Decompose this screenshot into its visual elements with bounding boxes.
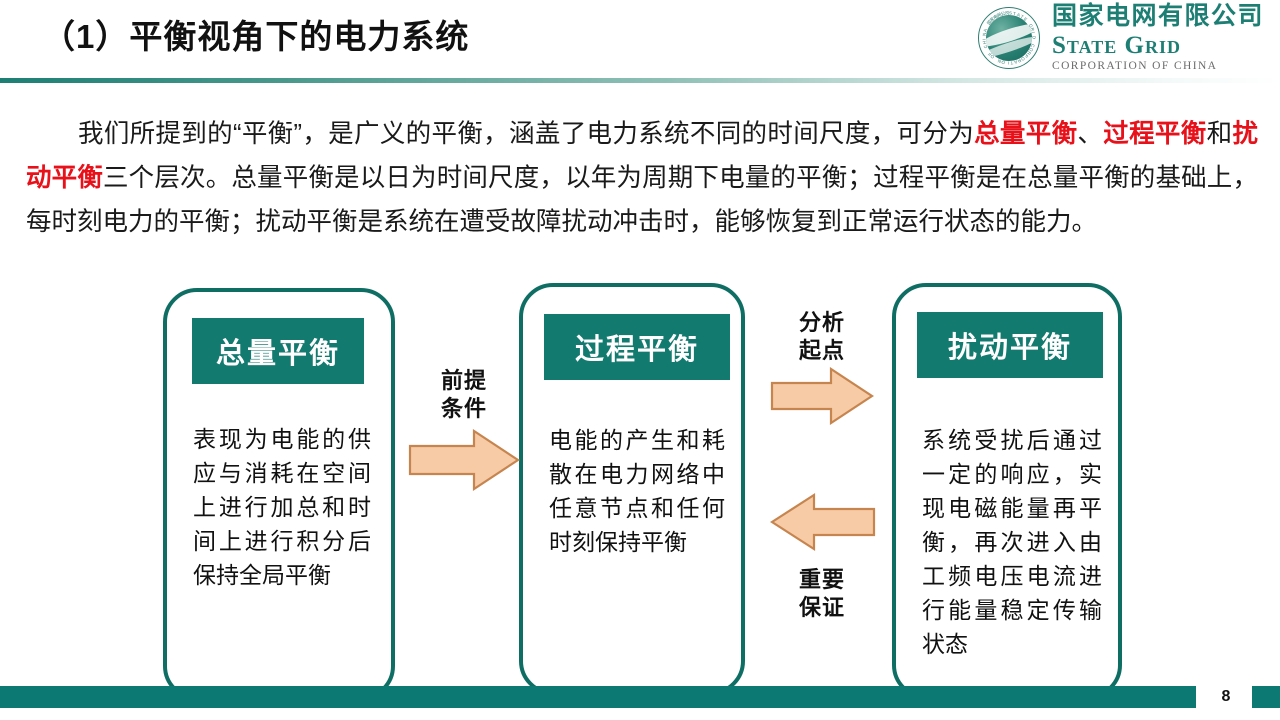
footer-bar-right-accent [1252,686,1280,708]
arrow-label-key-guarantee: 重要保证 [772,566,872,622]
logo-en-s: S [1052,32,1067,59]
flow-box-header-disturbance-balance: 扰动平衡 [917,312,1103,378]
flow-box-body-process-balance: 电能的产生和耗散在电力网络中任意节点和任何时刻保持平衡 [549,423,725,559]
flow-box-disturbance-balance: 扰动平衡 系统受扰后通过一定的响应，实现电磁能量再平衡，再次进入由工频电压电流进… [892,283,1122,699]
arrow-label-prerequisite: 前提条件 [408,367,520,423]
flow-box-header-process-balance: 过程平衡 [544,314,730,380]
arrow-left-key-guarantee-icon [770,492,876,552]
paragraph-part-3: 和 [1207,120,1233,148]
page-title: （1）平衡视角下的电力系统 [42,10,469,58]
logo-en-g: G [1125,32,1145,59]
paragraph-highlight-total-balance: 总量平衡 [974,120,1077,148]
logo-wordmark: 国家电网有限公司 STATE GRID CORPORATION OF CHINA [1052,4,1264,73]
logo-english-subtitle: CORPORATION OF CHINA [1052,61,1264,73]
page-number: 8 [1204,686,1248,708]
flow-box-header-total-balance: 总量平衡 [192,318,364,384]
flow-box-body-disturbance-balance: 系统受扰后通过一定的响应，实现电磁能量再平衡，再次进入由工频电压电流进行能量稳定… [922,423,1102,661]
logo-seal-text: STATE GRID CORPORATION OF CHINA 国家电网公司 [978,7,1040,69]
paragraph-part-4: 三个层次。总量平衡是以日为时间尺度，以年为周期下电量的平衡；过程平衡是在总量平衡… [26,164,1258,236]
body-paragraph: 我们所提到的“平衡”，是广义的平衡，涵盖了电力系统不同的时间尺度，可分为总量平衡… [26,112,1258,244]
state-grid-globe-icon: STATE GRID CORPORATION OF CHINA 国家电网公司 [978,7,1040,69]
flow-box-header-label: 总量平衡 [216,330,340,372]
title-divider [0,78,1280,83]
balance-flow-diagram: 总量平衡 表现为电能的供应与消耗在空间上进行加总和时间上进行积分后保持全局平衡 … [0,0,1280,720]
flow-box-process-balance: 过程平衡 电能的产生和耗散在电力网络中任意节点和任何时刻保持平衡 [519,283,745,695]
flow-box-header-label: 过程平衡 [575,326,699,368]
state-grid-logo: STATE GRID CORPORATION OF CHINA 国家电网公司 国… [978,6,1270,70]
flow-box-header-label: 扰动平衡 [948,324,1072,366]
logo-en-rid: RID [1145,37,1181,57]
logo-chinese-name: 国家电网有限公司 [1052,4,1264,29]
arrow-right-prerequisite-icon [408,429,520,491]
paragraph-part-2: 、 [1077,120,1103,148]
slide-canvas: （1）平衡视角下的电力系统 STATE GRID CORPORATION OF … [0,0,1280,720]
flow-box-body-total-balance: 表现为电能的供应与消耗在空间上进行加总和时间上进行积分后保持全局平衡 [193,422,371,592]
flow-box-total-balance: 总量平衡 表现为电能的供应与消耗在空间上进行加总和时间上进行积分后保持全局平衡 [163,288,395,700]
logo-en-tate: TATE [1067,37,1117,57]
arrow-label-analysis-start: 分析起点 [772,309,872,365]
logo-english-name: STATE GRID [1052,33,1264,58]
arrow-right-analysis-start-icon [770,367,874,425]
paragraph-highlight-process-balance: 过程平衡 [1103,120,1206,148]
paragraph-part-1: 我们所提到的“平衡”，是广义的平衡，涵盖了电力系统不同的时间尺度，可分为 [78,120,974,148]
footer-bar [0,686,1196,708]
